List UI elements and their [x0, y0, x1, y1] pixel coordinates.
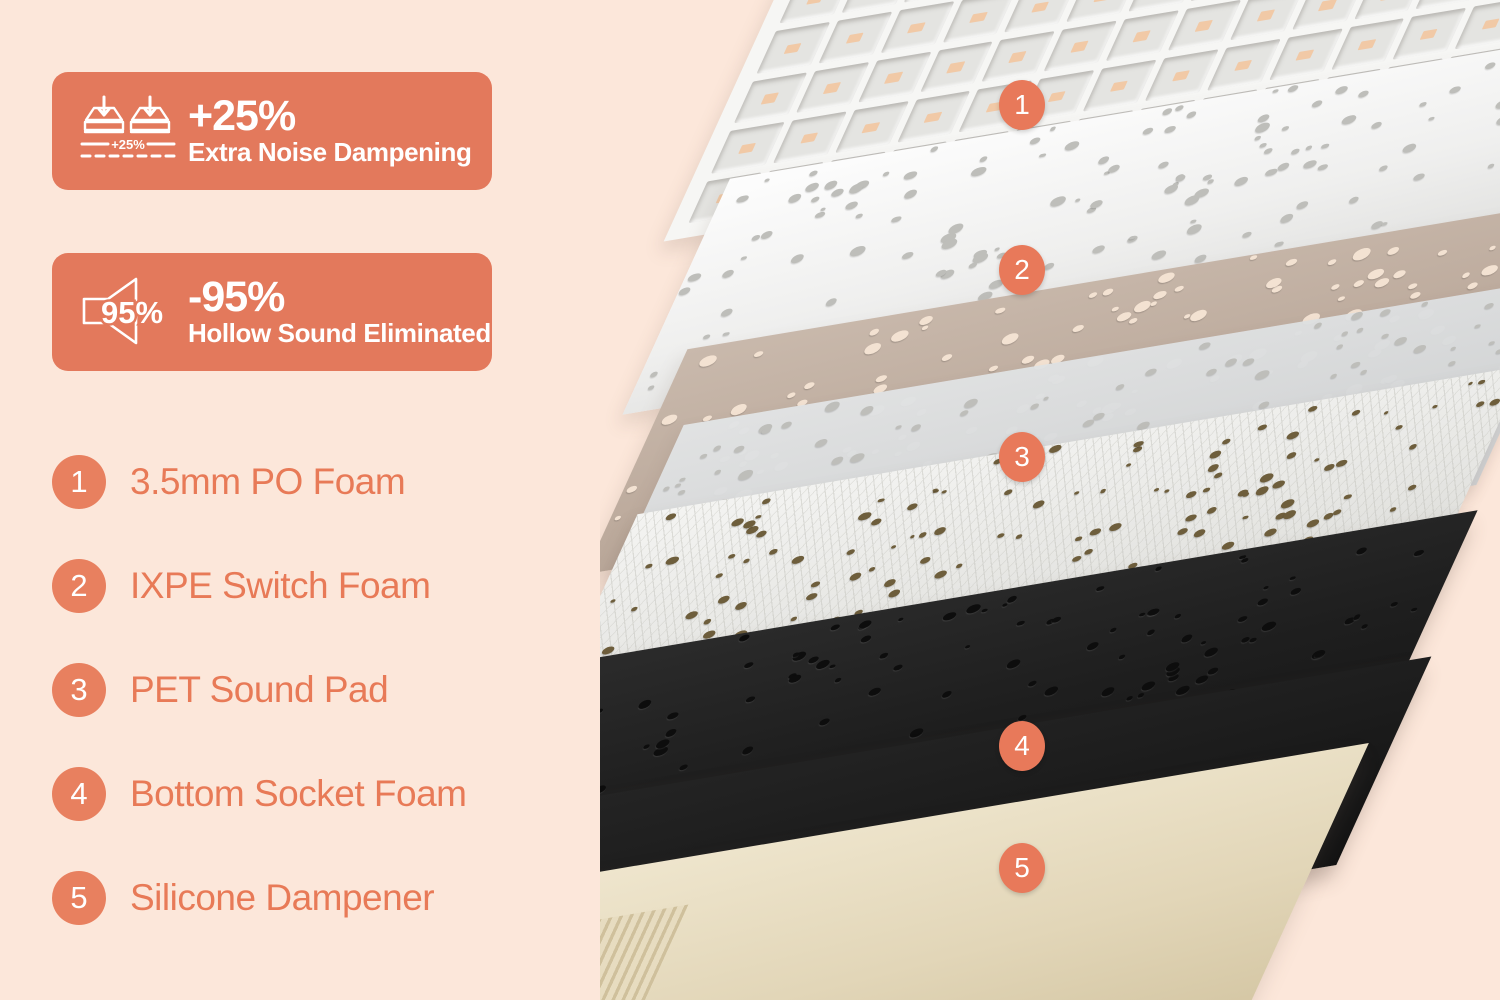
- badge-noise-value: +25%: [188, 95, 471, 137]
- speaker-mute-icon: 95%: [74, 273, 182, 351]
- info-column: +25% +25% Extra Noise Dampening 95% -95%…: [0, 0, 660, 1000]
- legend-number-2: 2: [52, 559, 106, 613]
- badge-noise-text: +25% Extra Noise Dampening: [188, 95, 471, 168]
- layer-marker-3: 3: [999, 432, 1045, 482]
- legend-label-3: PET Sound Pad: [130, 669, 388, 711]
- list-item: 1 3.5mm PO Foam: [52, 430, 652, 534]
- badge-hollow-sound: 95% -95% Hollow Sound Eliminated: [52, 253, 492, 371]
- legend-number-5: 5: [52, 871, 106, 925]
- badge-hollow-caption: Hollow Sound Eliminated: [188, 318, 491, 349]
- badge-hollow-text: -95% Hollow Sound Eliminated: [188, 276, 491, 349]
- legend-label-5: Silicone Dampener: [130, 877, 434, 919]
- layer-marker-1: 1: [999, 80, 1045, 130]
- list-item: 4 Bottom Socket Foam: [52, 742, 652, 846]
- badge-hollow-value: -95%: [188, 276, 491, 318]
- legend-label-2: IXPE Switch Foam: [130, 565, 430, 607]
- layer-marker-5: 5: [999, 843, 1045, 893]
- svg-text:95%: 95%: [101, 295, 163, 330]
- exploded-keyboard-illustration: [600, 0, 1500, 1000]
- legend-number-1: 1: [52, 455, 106, 509]
- legend-number-3: 3: [52, 663, 106, 717]
- list-item: 5 Silicone Dampener: [52, 846, 652, 950]
- layer-marker-4: 4: [999, 721, 1045, 771]
- legend-label-1: 3.5mm PO Foam: [130, 461, 405, 503]
- legend-label-4: Bottom Socket Foam: [130, 773, 466, 815]
- layer-marker-2: 2: [999, 245, 1045, 295]
- svg-text:+25%: +25%: [111, 137, 145, 152]
- foam-stack-compression-icon: +25%: [74, 92, 182, 170]
- list-item: 2 IXPE Switch Foam: [52, 534, 652, 638]
- badge-noise-dampening: +25% +25% Extra Noise Dampening: [52, 72, 492, 190]
- layer-legend-list: 1 3.5mm PO Foam 2 IXPE Switch Foam 3 PET…: [52, 430, 652, 950]
- list-item: 3 PET Sound Pad: [52, 638, 652, 742]
- badge-noise-caption: Extra Noise Dampening: [188, 137, 471, 168]
- legend-number-4: 4: [52, 767, 106, 821]
